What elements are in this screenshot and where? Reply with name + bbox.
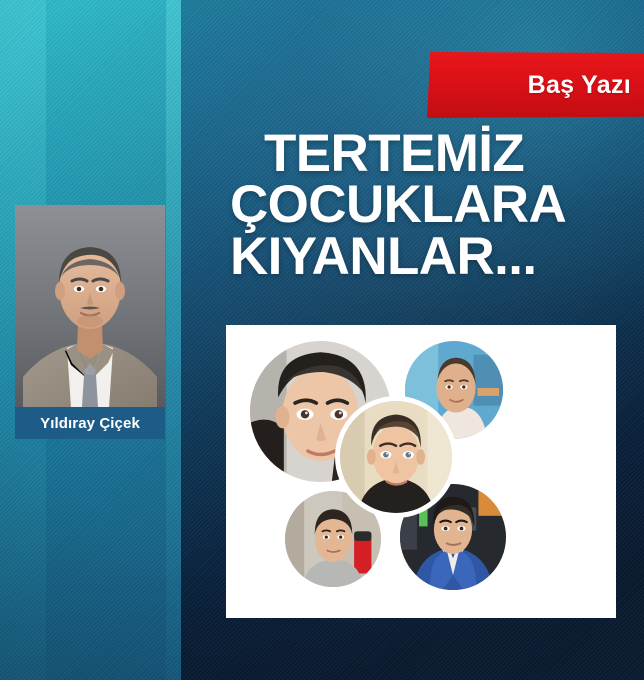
collage-photo-4 — [285, 491, 381, 587]
author-name-banner: Yıldıray Çiçek — [15, 407, 165, 439]
headline-line-1: TERTEMİZ — [264, 128, 644, 179]
author-photo — [15, 205, 165, 423]
background-left-edge-strip — [166, 0, 181, 680]
page-title: TERTEMİZ ÇOCUKLARA KIYANLAR... — [228, 128, 644, 282]
article-header-graphic: Yıldıray Çiçek Baş Yazı TERTEMİZ ÇOCUKLA… — [0, 0, 644, 680]
author-name: Yıldıray Çiçek — [40, 415, 140, 432]
headline-line-2: ÇOCUKLARA — [230, 179, 644, 230]
photo-collage-card — [226, 325, 616, 618]
headline-line-3: KIYANLAR... — [230, 231, 644, 282]
section-badge-label: Baş Yazı — [528, 71, 631, 100]
collage-photo-3 — [340, 401, 452, 513]
photo-collage — [226, 325, 616, 618]
section-badge: Baş Yazı — [427, 52, 644, 118]
